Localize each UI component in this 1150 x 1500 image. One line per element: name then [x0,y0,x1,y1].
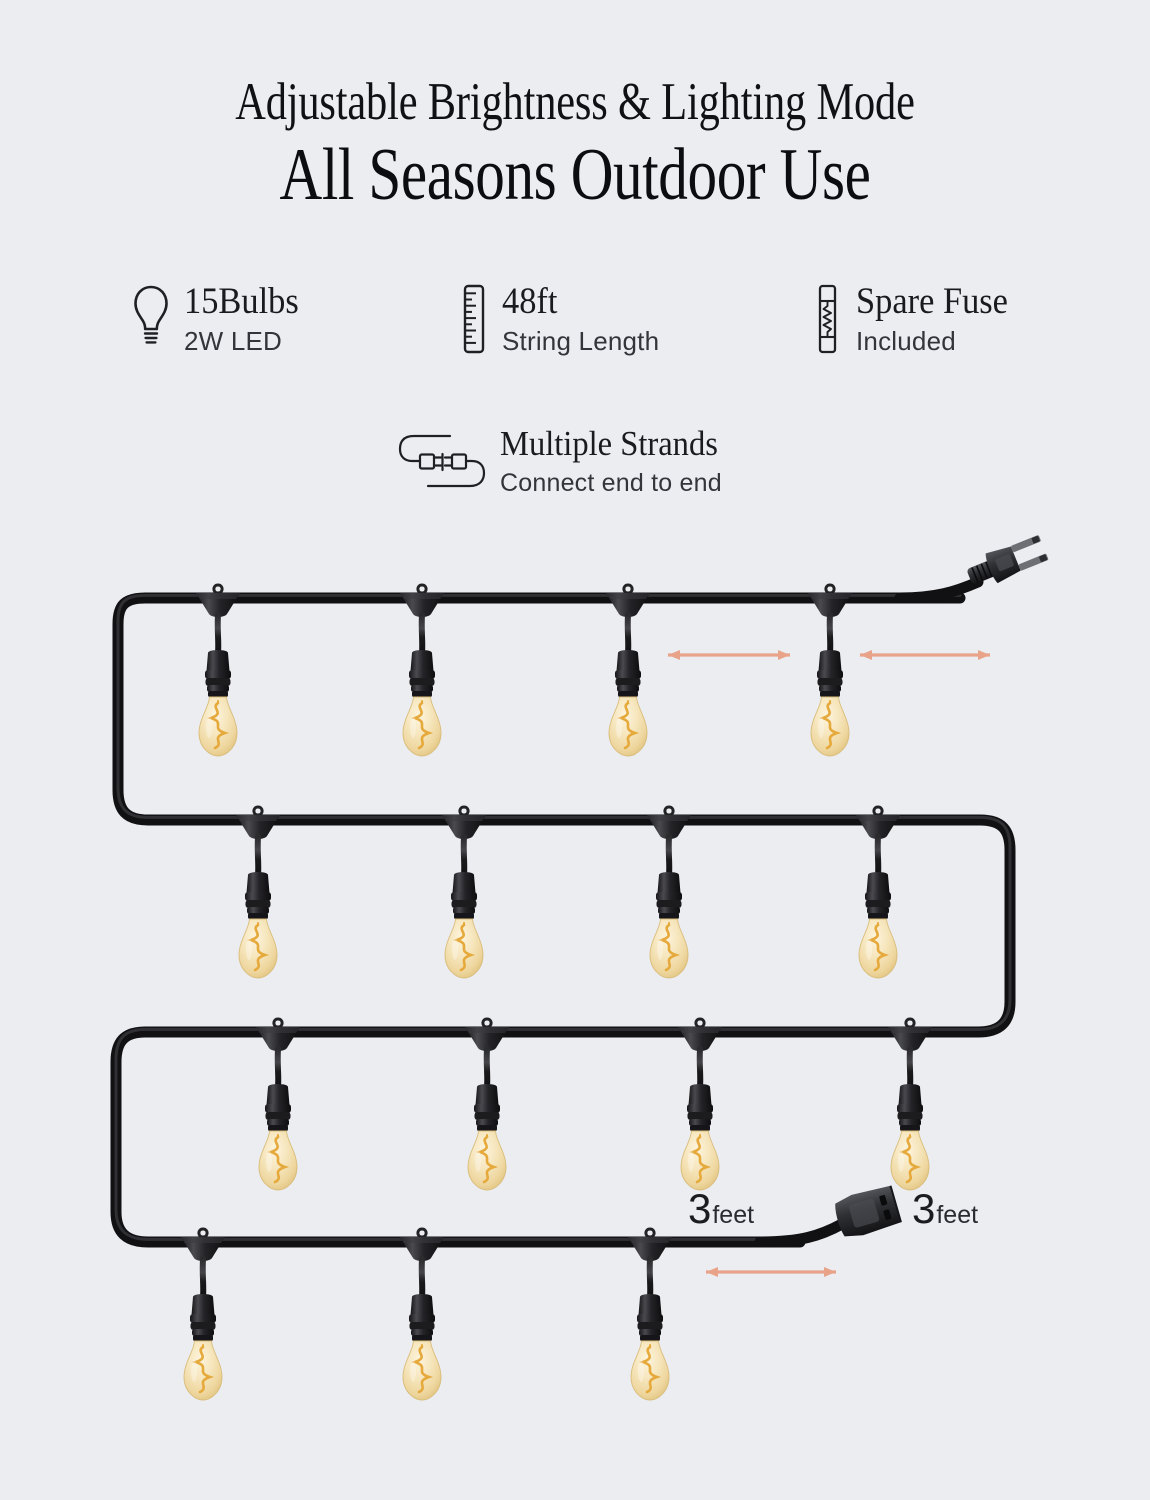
bulb-assembly [888,1019,932,1190]
feature-length-text: 48ft String Length [502,282,659,357]
headline-block: Adjustable Brightness & Lighting Mode Al… [0,72,1150,216]
bulb-assembly [628,1229,672,1400]
feature-fuse-subtitle: Included [856,325,1019,357]
bulb-assembly [196,585,240,756]
feature-strands-title: Multiple Strands [500,424,718,464]
ruler-icon [458,284,488,354]
bulb-assembly [256,1019,300,1190]
bulb-assembly [678,1019,722,1190]
measure-label-2-unit: feet [936,1203,978,1228]
bulb-assembly [400,585,444,756]
bulb-row-2 [236,807,900,978]
bulb-assembly [181,1229,225,1400]
bulb-assembly [647,807,691,978]
measure-arrow-2 [860,650,990,660]
feature-strands: Multiple Strands Connect end to end [398,424,734,499]
feature-length-subtitle: String Length [502,325,659,357]
bulb-assembly [236,807,280,978]
male-plug [963,532,1049,592]
string-light-svg [0,520,1150,1420]
feature-strands-text: Multiple Strands Connect end to end [500,424,734,499]
headline-line-2: All Seasons Outdoor Use [115,134,1035,216]
bulb-assembly [856,807,900,978]
female-connector [832,1184,901,1241]
measure-label-1-number: 3 [688,1188,711,1230]
infographic-page: Adjustable Brightness & Lighting Mode Al… [0,0,1150,1500]
bulb-icon [132,284,170,346]
feature-fuse-title: Spare Fuse [856,282,1008,322]
headline-line-1: Adjustable Brightness & Lighting Mode [115,72,1035,132]
feature-bulbs: 15Bulbs 2W LED [132,282,307,357]
female-connector-lead [760,1224,842,1242]
plug-connect-icon [398,430,486,496]
male-plug-lead [900,582,978,598]
bulb-assembly [400,1229,444,1400]
feature-bulbs-subtitle: 2W LED [184,325,307,357]
bulb-assembly [442,807,486,978]
feature-strands-subtitle: Connect end to end [500,467,734,499]
measure-label-2-number: 3 [912,1188,935,1230]
measure-arrow-3 [706,1267,836,1277]
measure-label-2: 3 feet [912,1188,978,1230]
bulb-row-1 [196,585,852,756]
measure-label-1-unit: feet [712,1203,754,1228]
feature-bulbs-text: 15Bulbs 2W LED [184,282,307,357]
bulb-row-3 [256,1019,932,1190]
bulb-assembly [606,585,650,756]
feature-length-title: 48ft [502,282,648,322]
measure-label-1: 3 feet [688,1188,754,1230]
fuse-icon [812,284,842,354]
feature-bulbs-title: 15Bulbs [184,282,299,322]
bulb-row-4 [181,1229,672,1400]
feature-fuse: Spare Fuse Included [812,282,1019,357]
feature-fuse-text: Spare Fuse Included [856,282,1019,357]
bulb-assembly [808,585,852,756]
bulb-assembly [465,1019,509,1190]
measure-arrow-1 [668,650,790,660]
feature-length: 48ft String Length [458,282,659,357]
string-light-diagram: 3 feet 3 feet 3 feet [0,520,1150,1420]
